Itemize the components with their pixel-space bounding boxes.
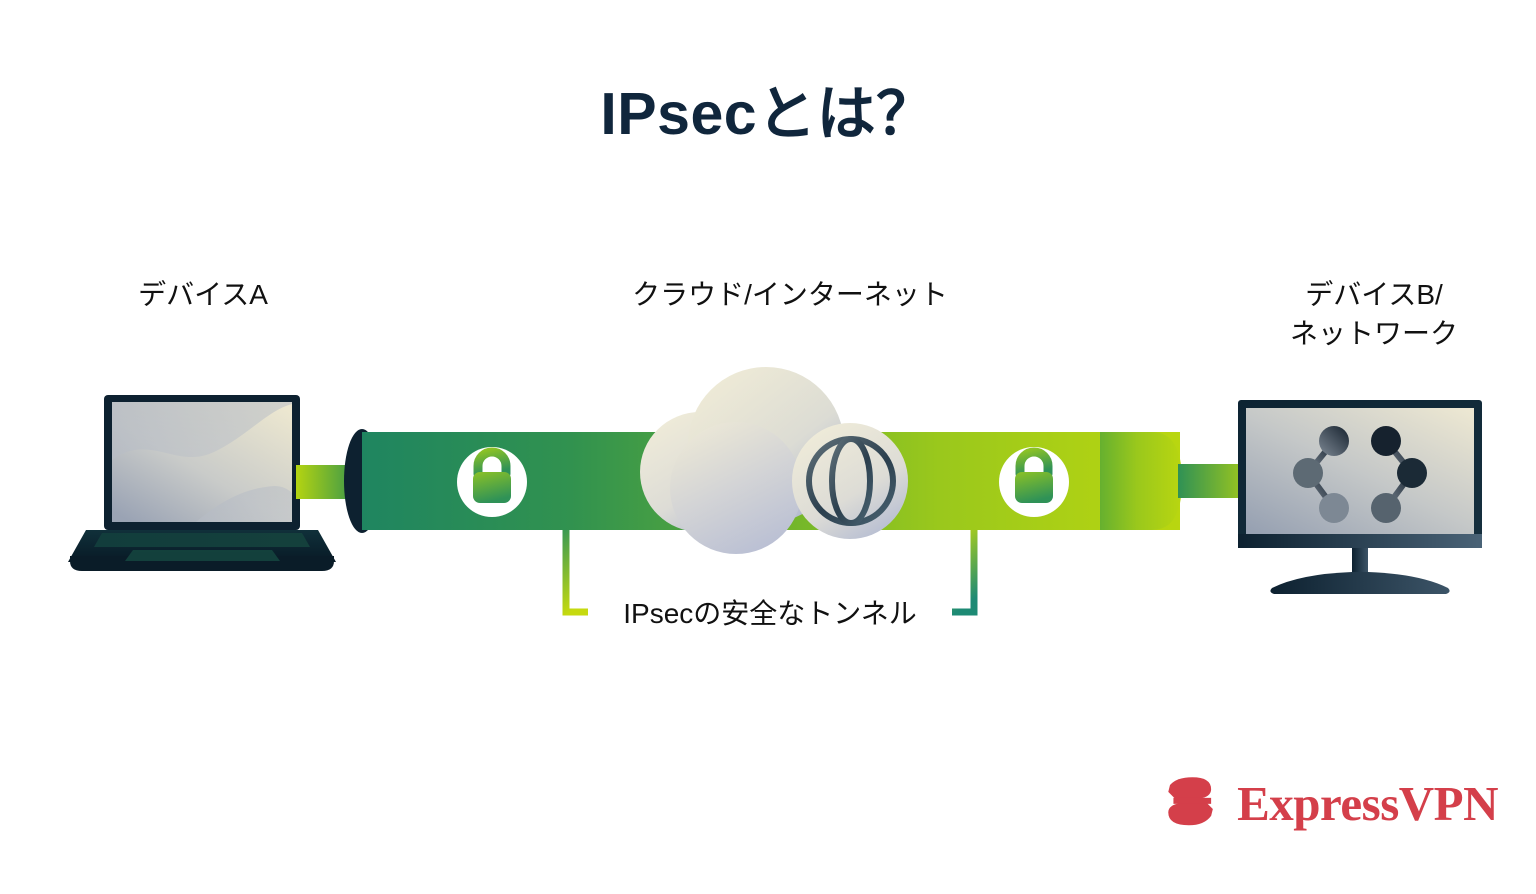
laptop-icon [68, 395, 336, 571]
expressvpn-logo: ExpressVPN [1158, 762, 1498, 844]
diagram-graphics [0, 0, 1536, 894]
connector-right [1178, 464, 1246, 498]
tunnel-caption: IPsecの安全なトンネル [560, 592, 980, 632]
infographic-canvas: IPsecとは？ デバイスA クラウド/インターネット デバイスB/ ネットワー… [0, 0, 1536, 894]
lock-icon-left [457, 447, 527, 517]
expressvpn-wordmark: ExpressVPN [1237, 779, 1498, 828]
expressvpn-logo-mark [1158, 768, 1223, 838]
lock-icon-right [999, 447, 1069, 517]
monitor-icon [1238, 400, 1482, 594]
